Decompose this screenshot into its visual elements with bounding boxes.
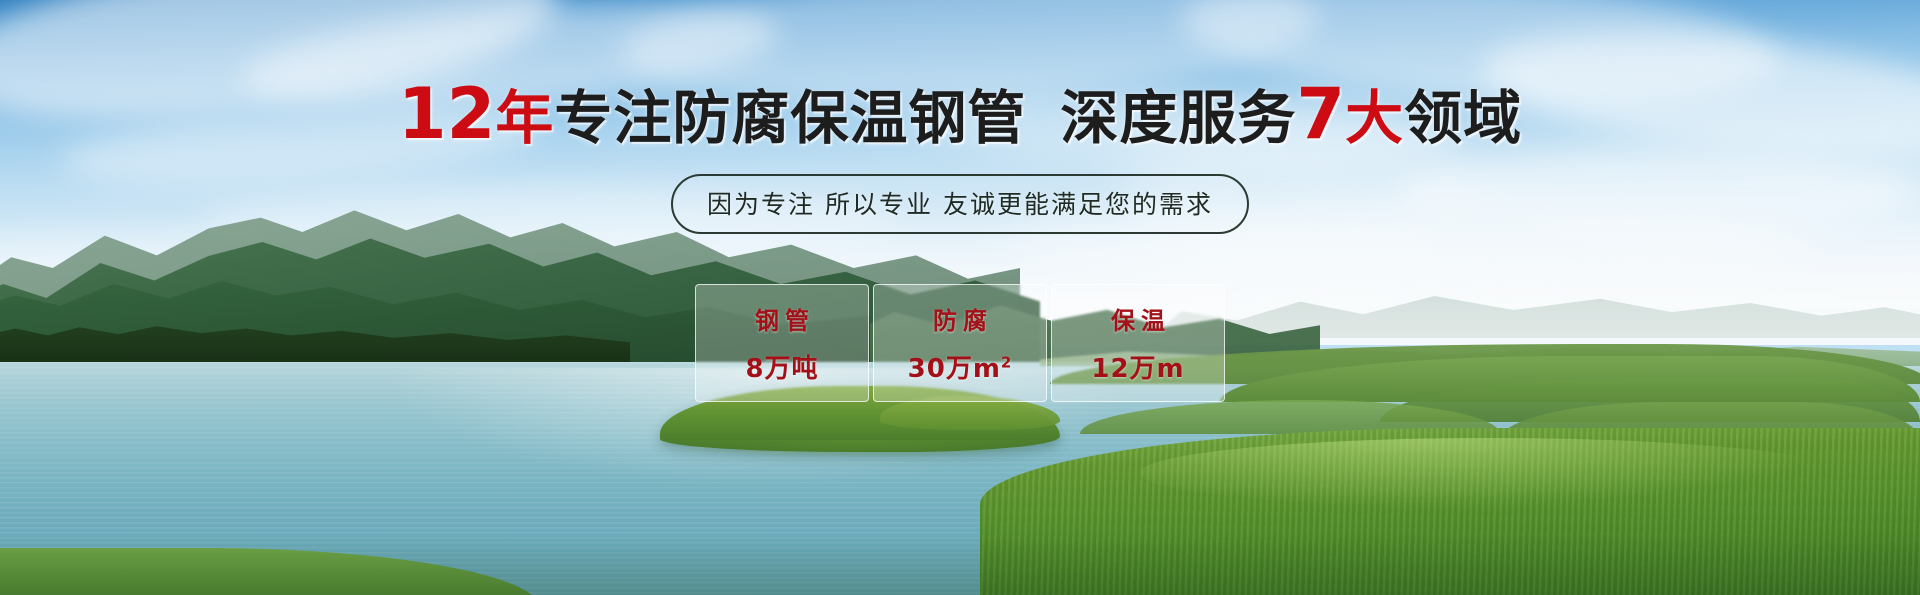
stat-card-gangguan: 钢管 8万吨 bbox=[695, 284, 869, 402]
headline-part-b: 深度服务 bbox=[1060, 84, 1296, 152]
stat-label: 钢管 bbox=[749, 301, 815, 336]
hero-banner: 12年专注防腐保温钢管深度服务7大领域 因为专注 所以专业 友诚更能满足您的需求… bbox=[0, 0, 1920, 595]
headline: 12年专注防腐保温钢管深度服务7大领域 bbox=[398, 78, 1522, 152]
headline-domains-number: 7 bbox=[1296, 73, 1345, 155]
stat-value-text: 30万m bbox=[908, 354, 1001, 384]
stat-value: 30万m2 bbox=[908, 348, 1013, 385]
headline-domains-unit: 大 bbox=[1345, 84, 1404, 152]
stat-value: 8万吨 bbox=[745, 348, 818, 385]
stat-value-text: 12万m bbox=[1091, 354, 1184, 384]
stat-card-baowen: 保温 12万m bbox=[1051, 284, 1225, 402]
stats-row: 钢管 8万吨 防腐 30万m2 保温 12万m bbox=[695, 284, 1225, 402]
stat-value-superscript: 2 bbox=[1001, 353, 1012, 371]
stat-label: 防腐 bbox=[927, 301, 993, 336]
subtitle-pill: 因为专注 所以专业 友诚更能满足您的需求 bbox=[671, 174, 1249, 234]
stat-label: 保温 bbox=[1105, 301, 1171, 336]
stat-value-text: 8万吨 bbox=[745, 354, 818, 384]
headline-part-a: 专注防腐保温钢管 bbox=[554, 84, 1026, 152]
banner-content: 12年专注防腐保温钢管深度服务7大领域 因为专注 所以专业 友诚更能满足您的需求… bbox=[0, 0, 1920, 595]
stat-card-fangfu: 防腐 30万m2 bbox=[873, 284, 1047, 402]
stat-value: 12万m bbox=[1091, 348, 1184, 385]
headline-years-number: 12 bbox=[398, 73, 495, 155]
headline-part-c: 领域 bbox=[1404, 84, 1522, 152]
headline-years-unit: 年 bbox=[495, 84, 554, 152]
